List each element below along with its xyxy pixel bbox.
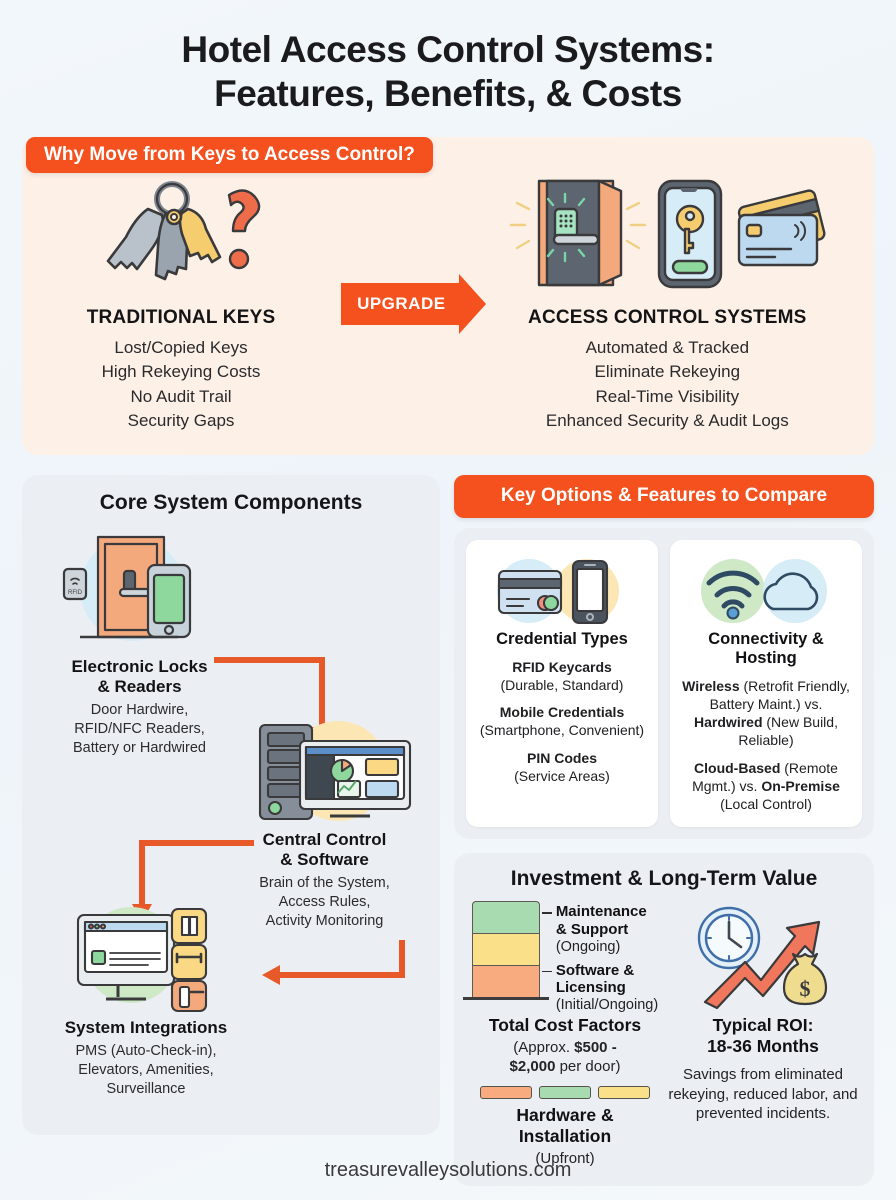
card-title: Connectivity & Hosting	[679, 630, 853, 668]
section-key-options: Key Options & Features to Compare	[454, 475, 874, 839]
bullet: No Audit Trail	[38, 385, 324, 409]
server-and-dashboard-icon	[230, 713, 420, 825]
cost-sub-suffix: per door)	[555, 1058, 620, 1075]
callout-title: Maintenance	[556, 903, 658, 921]
node-electronic-locks: RFID Electronic Locks & Readers Door Har…	[32, 527, 247, 758]
connectivity-item-bold2: Hardwired	[694, 714, 762, 730]
connectivity-item-bold2: On-Premise	[761, 778, 840, 794]
core-components-column: Core System Components	[22, 475, 440, 1135]
card-title: Credential Types	[475, 630, 649, 649]
cost-column: Maintenance & Support (Ongoing) Software…	[470, 901, 660, 1168]
bullet: Enhanced Security & Audit Logs	[477, 409, 858, 433]
core-components-panel: Core System Components	[22, 475, 440, 1135]
traditional-keys-heading: TRADITIONAL KEYS	[38, 307, 324, 329]
section-why-move-tag: Why Move from Keys to Access Control?	[26, 137, 433, 173]
credential-item-plain: (Smartphone, Convenient)	[480, 722, 644, 738]
connectivity-item-bold: Cloud-Based	[694, 760, 780, 776]
upgrade-arrow-label: UPGRADE	[341, 283, 460, 325]
cost-subtext: (Approx. $500 -$2,000 per door)	[470, 1038, 660, 1076]
page-title-line-1: Hotel Access Control Systems:	[22, 28, 874, 72]
right-column: Key Options & Features to Compare	[454, 475, 874, 1186]
callout-note: (Initial/Ongoing)	[556, 997, 658, 1014]
node-title: System Integrations	[26, 1018, 266, 1038]
legend-swatch-maintenance	[539, 1086, 591, 1099]
section-investment-title: Investment & Long-Term Value	[470, 867, 858, 891]
section-why-move-panel: TRADITIONAL KEYS Lost/Copied Keys High R…	[22, 137, 874, 455]
cost-segment-hardware	[472, 965, 540, 997]
cost-callout-software: Software & Licensing (Initial/Ongoing)	[542, 962, 658, 1014]
bullet: Automated & Tracked	[477, 336, 858, 360]
card-connectivity-hosting: Connectivity & Hosting Wireless (Retrofi…	[670, 540, 862, 827]
page-title: Hotel Access Control Systems: Features, …	[22, 0, 874, 115]
card-body: RFID Keycards(Durable, Standard) Mobile …	[475, 658, 649, 785]
bullet: Security Gaps	[38, 409, 324, 433]
bullet: Real-Time Visibility	[477, 385, 858, 409]
callout-tick-icon	[542, 912, 552, 914]
connectivity-item-bold: Wireless	[682, 678, 739, 694]
keycard-icon	[499, 571, 561, 613]
node-subtext: PMS (Auto-Check-in), Elevators, Amenitie…	[26, 1042, 266, 1099]
roi-column: $ Typical ROI: 18-36 Months Savings from…	[668, 901, 858, 1168]
access-control-bullets: Automated & Tracked Eliminate Rekeying R…	[477, 336, 858, 433]
cost-legend-swatches	[470, 1086, 660, 1099]
section-key-options-tag: Key Options & Features to Compare	[454, 475, 874, 518]
lower-sections: Core System Components	[22, 475, 874, 1186]
traditional-keys-column: TRADITIONAL KEYS Lost/Copied Keys High R…	[38, 173, 324, 433]
node-title-line1: Electronic Locks	[32, 657, 247, 677]
chart-baseline	[463, 997, 549, 1000]
card-credential-types: Credential Types RFID Keycards(Durable, …	[466, 540, 658, 827]
cost-legend-heading: Hardware & Installation	[470, 1105, 660, 1147]
section-investment: Investment & Long-Term Value	[454, 853, 874, 1186]
arrow-head-icon	[459, 274, 486, 334]
credential-item-bold: PIN Codes	[527, 750, 597, 766]
footer-url: treasurevalleysolutions.com	[0, 1159, 896, 1182]
bullet: Eliminate Rekeying	[477, 360, 858, 384]
credential-item-plain: (Durable, Standard)	[501, 677, 624, 693]
cost-segment-software	[472, 933, 540, 965]
section-why-move: Why Move from Keys to Access Control?	[22, 137, 874, 455]
svg-text:$: $	[800, 976, 811, 1001]
cost-sub-prefix: (Approx.	[513, 1039, 574, 1056]
callout-note: (Ongoing)	[556, 939, 658, 956]
cost-callout-maintenance: Maintenance & Support (Ongoing)	[542, 903, 658, 955]
cost-stacked-bar-chart	[472, 901, 540, 1000]
credential-item-bold: RFID Keycards	[512, 659, 612, 675]
access-control-column: ACCESS CONTROL SYSTEMS Automated & Track…	[477, 173, 858, 433]
callout-tick-icon	[542, 971, 552, 973]
callout-title-2: Licensing	[556, 979, 658, 997]
clock-icon	[699, 908, 759, 968]
credential-item-plain: (Service Areas)	[514, 768, 610, 784]
legend-swatch-hardware	[480, 1086, 532, 1099]
roi-heading-line1: Typical ROI:	[668, 1015, 858, 1036]
node-title: Electronic Locks & Readers	[32, 657, 247, 697]
door-with-reader-and-phone-icon: RFID	[50, 527, 230, 652]
section-key-options-panel: Credential Types RFID Keycards(Durable, …	[454, 528, 874, 839]
card-body: Wireless (Retrofit Friendly, Battery Mai…	[679, 677, 853, 813]
callout-title: Software &	[556, 962, 658, 980]
cost-amount-high: $2,000	[510, 1058, 556, 1075]
upgrade-arrow: UPGRADE	[324, 173, 477, 325]
clock-growth-arrow-money-bag-icon: $	[668, 901, 858, 1011]
node-subtext: Door Hardwire, RFID/NFC Readers, Battery…	[32, 701, 247, 758]
node-system-integrations: System Integrations PMS (Auto-Check-in),…	[26, 895, 266, 1099]
node-title-line2: & Readers	[32, 677, 247, 697]
roi-heading-line2: 18-36 Months	[668, 1036, 858, 1057]
legend-swatch-software	[598, 1086, 650, 1099]
callout-title-2: & Support	[556, 921, 658, 939]
access-control-heading: ACCESS CONTROL SYSTEMS	[477, 307, 858, 329]
node-title-line2: & Software	[222, 850, 427, 870]
credential-item-bold: Mobile Credentials	[500, 704, 624, 720]
roi-note: Savings from eliminated rekeying, reduce…	[668, 1065, 858, 1124]
page-title-line-2: Features, Benefits, & Costs	[22, 72, 874, 116]
svg-text:RFID: RFID	[68, 590, 83, 596]
node-title: Central Control & Software	[222, 830, 427, 870]
infographic-page: Hotel Access Control Systems: Features, …	[0, 0, 896, 1200]
pms-monitor-with-integration-tiles-icon	[56, 895, 236, 1013]
cost-amount-low: $500 -	[574, 1039, 617, 1056]
keyring-with-question-mark-icon	[38, 173, 324, 293]
bullet: High Rekeying Costs	[38, 360, 324, 384]
bullet: Lost/Copied Keys	[38, 336, 324, 360]
cost-segment-maintenance	[472, 901, 540, 933]
cost-heading: Total Cost Factors	[470, 1015, 660, 1036]
smart-door-phone-keycard-icon	[477, 173, 858, 293]
section-why-move-tag-holder: Why Move from Keys to Access Control?	[26, 137, 433, 173]
cost-callouts: Maintenance & Support (Ongoing) Software…	[542, 901, 658, 1020]
smartphone-icon	[573, 561, 607, 623]
connectivity-item-plain2: (Local Control)	[720, 796, 812, 812]
node-title-line1: Central Control	[222, 830, 427, 850]
traditional-keys-bullets: Lost/Copied Keys High Rekeying Costs No …	[38, 336, 324, 433]
